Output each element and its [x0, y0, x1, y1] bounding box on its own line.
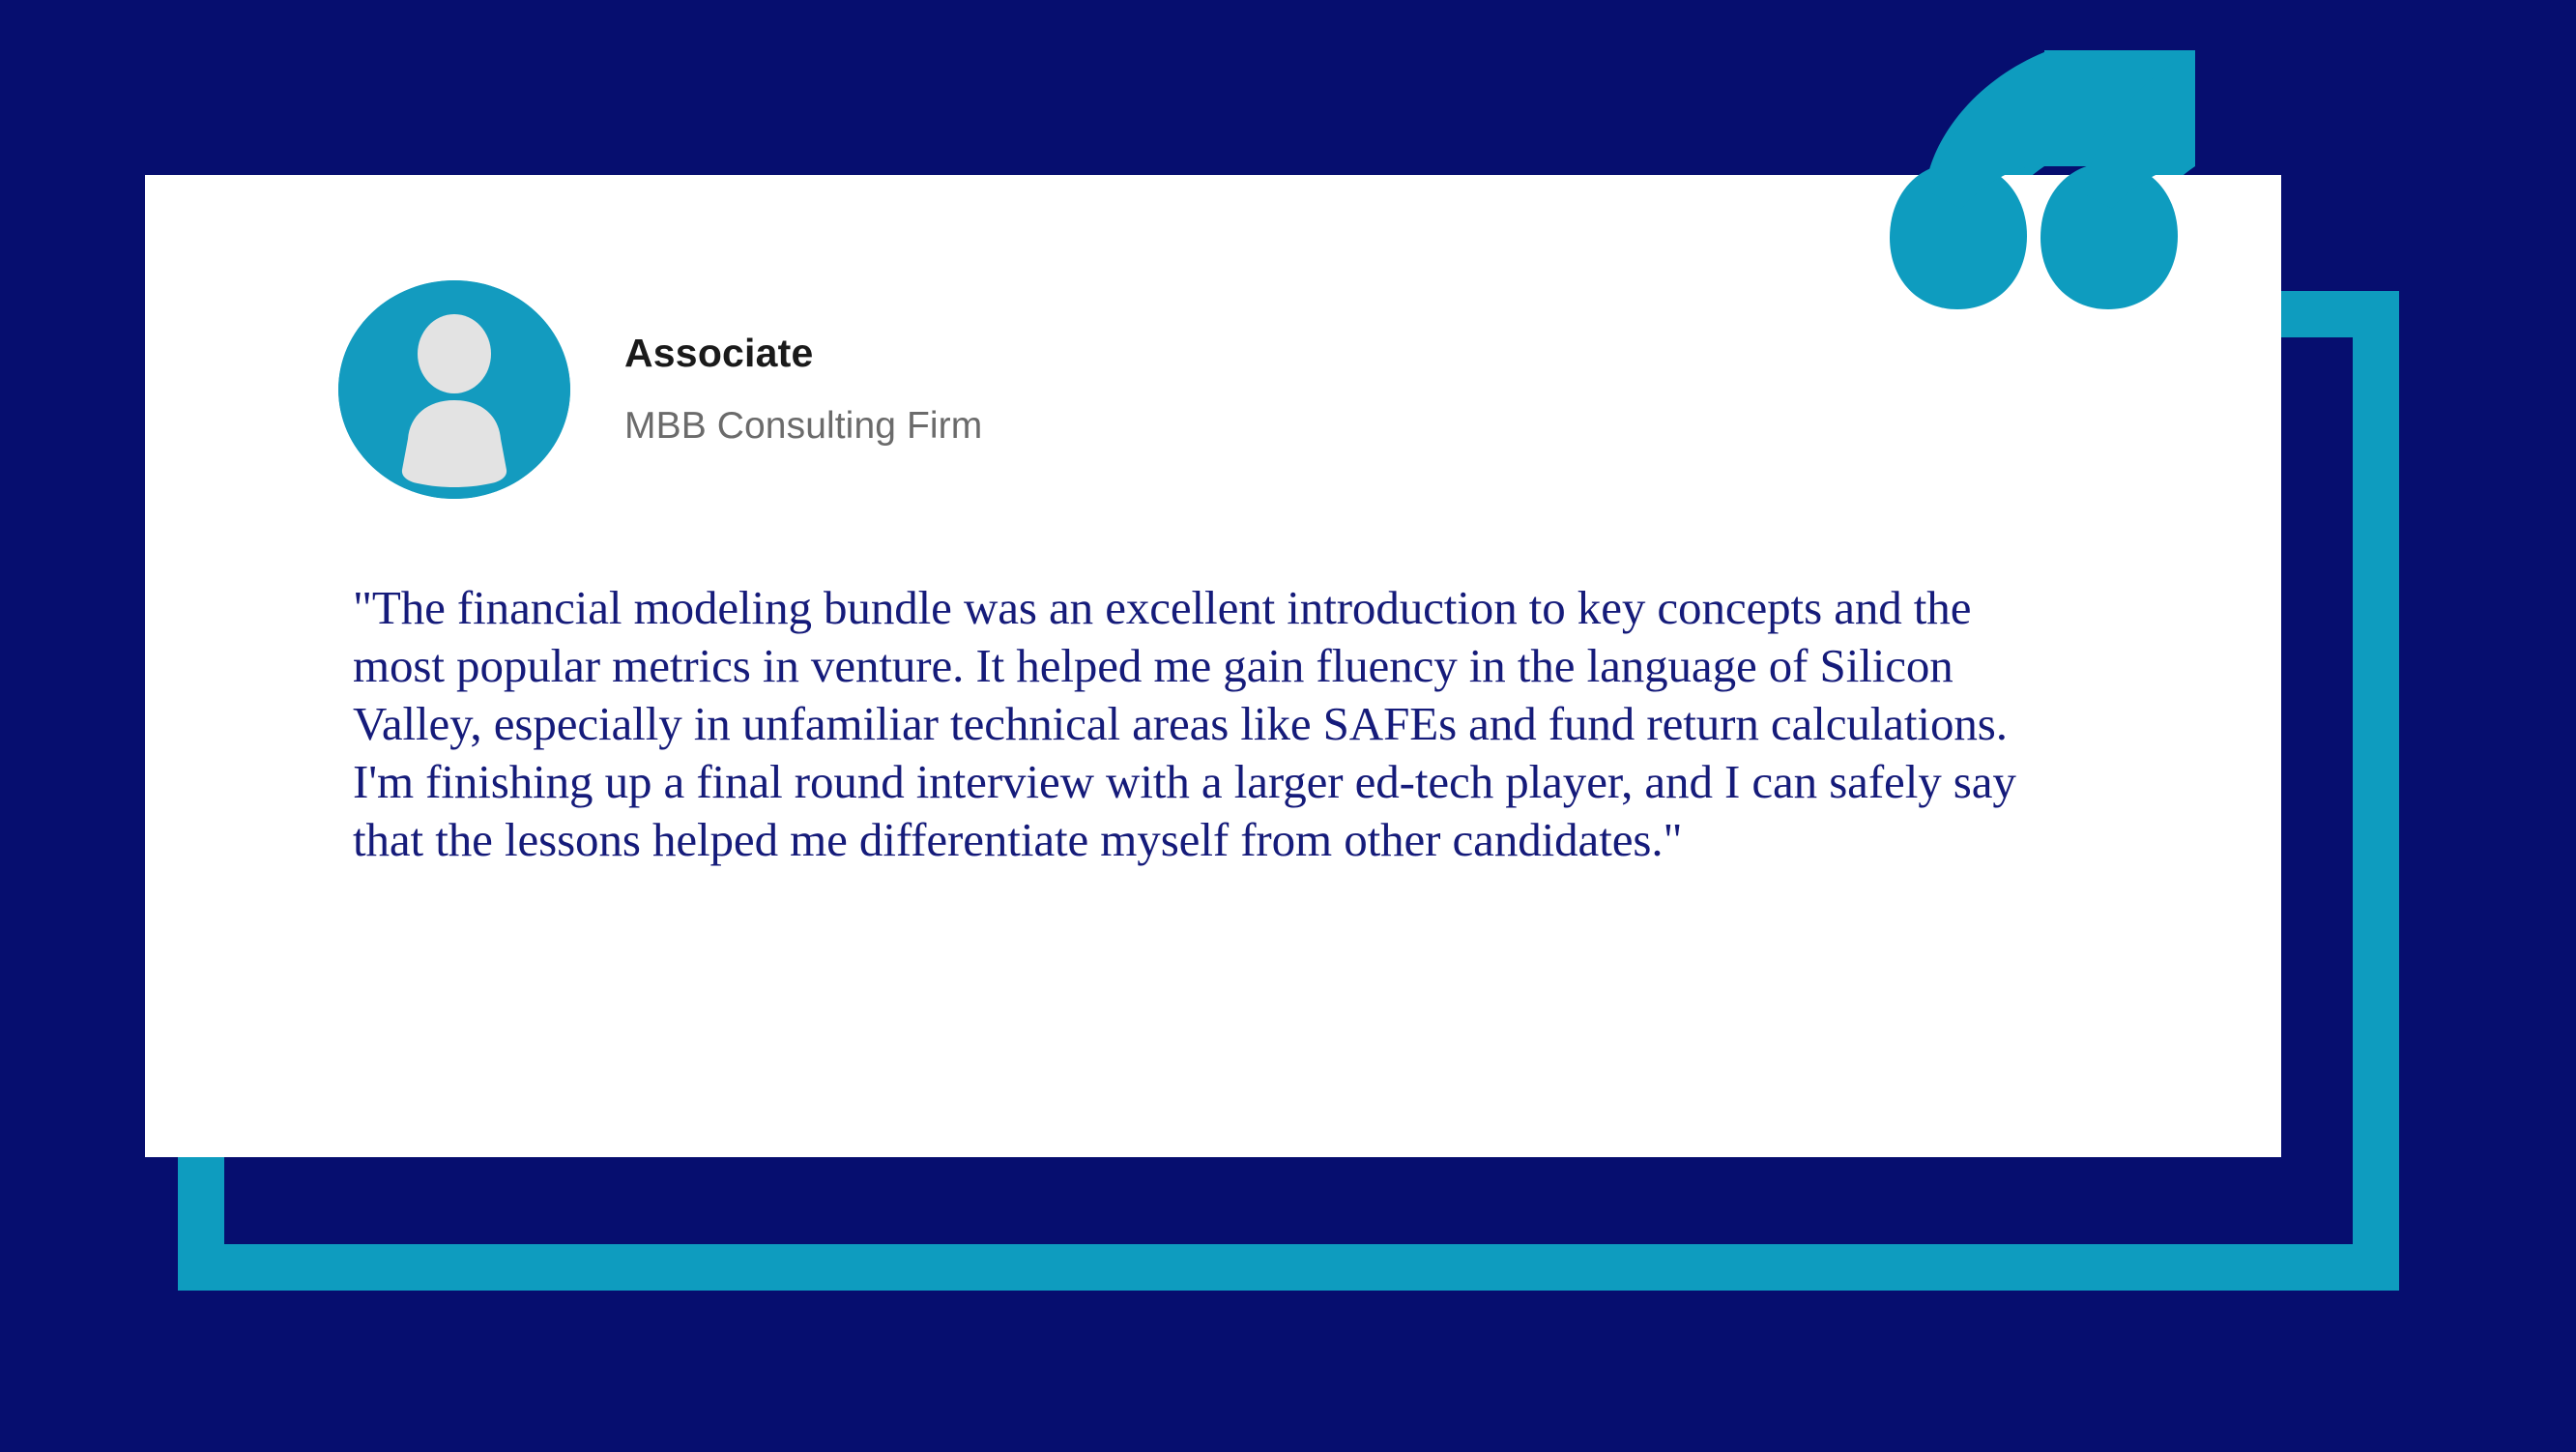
quote-line: that the lessons helped me differentiate…	[353, 811, 2102, 869]
quote-line: I'm finishing up a final round interview…	[353, 753, 2102, 811]
author-organization: MBB Consulting Firm	[624, 406, 982, 448]
user-avatar-icon	[338, 280, 570, 499]
testimonial-card: Associate MBB Consulting Firm "The finan…	[145, 175, 2281, 1157]
quote-line: Valley, especially in unfamiliar technic…	[353, 695, 2102, 753]
author-name: Associate	[624, 332, 982, 375]
testimonial-quote-text: "The financial modeling bundle was an ex…	[353, 579, 2102, 869]
quote-line: most popular metrics in venture. It help…	[353, 637, 2102, 695]
quote-line: "The financial modeling bundle was an ex…	[353, 579, 2102, 637]
quote-mark-icon-overlay	[1890, 175, 2209, 309]
author-text-group: Associate MBB Consulting Firm	[624, 332, 982, 448]
author-block: Associate MBB Consulting Firm	[338, 280, 982, 499]
testimonial-slide: Associate MBB Consulting Firm "The finan…	[0, 0, 2576, 1452]
